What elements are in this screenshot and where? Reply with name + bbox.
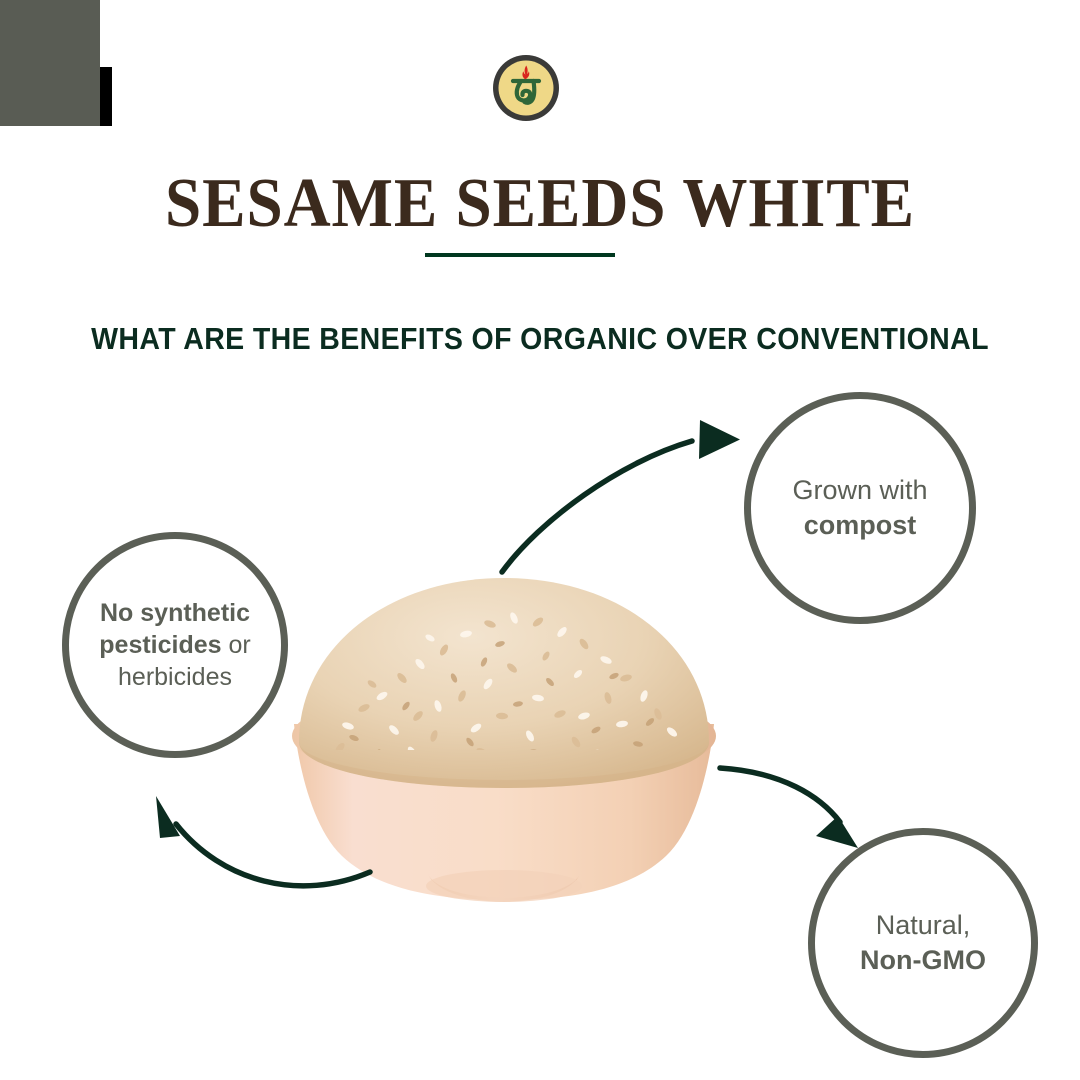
arrow-to-compost-icon [502, 420, 740, 572]
benefit-bubble-compost-text: Grown with compost [778, 473, 941, 542]
title-underline-rule [425, 253, 615, 257]
arrow-to-nongmo-icon [720, 768, 858, 848]
benefit-bubble-nongmo-text: Natural, Non-GMO [846, 908, 1000, 977]
benefit-pesticides-line1: No synthetic [100, 599, 250, 627]
corner-decoration-block [0, 0, 100, 126]
brand-logo-icon [490, 52, 562, 124]
page-title: SESAME SEEDS WHITE [38, 165, 1042, 243]
benefit-nongmo-line2: Non-GMO [860, 945, 986, 975]
benefit-nongmo-line1: Natural, [876, 910, 971, 940]
benefit-pesticides-line2: pesticides [99, 631, 221, 659]
benefit-compost-line2: compost [804, 510, 917, 540]
benefit-compost-line1: Grown with [792, 475, 927, 505]
benefit-bubble-compost[interactable]: Grown with compost [744, 392, 976, 624]
benefit-bubble-pesticides-text: No synthetic pesticides or herbicides [85, 597, 264, 693]
benefit-pesticides-line3: herbicides [118, 663, 232, 691]
benefit-bubble-nongmo[interactable]: Natural, Non-GMO [808, 828, 1038, 1058]
infographic-canvas: SESAME SEEDS WHITE WHAT ARE THE BENEFITS… [0, 0, 1080, 1080]
benefit-bubble-pesticides[interactable]: No synthetic pesticides or herbicides [62, 532, 288, 758]
corner-decoration-tab [100, 67, 112, 126]
benefit-pesticides-line2-tail: or [222, 631, 251, 659]
page-subtitle: WHAT ARE THE BENEFITS OF ORGANIC OVER CO… [43, 320, 1037, 358]
sesame-seeds-bowl-image [278, 556, 730, 904]
